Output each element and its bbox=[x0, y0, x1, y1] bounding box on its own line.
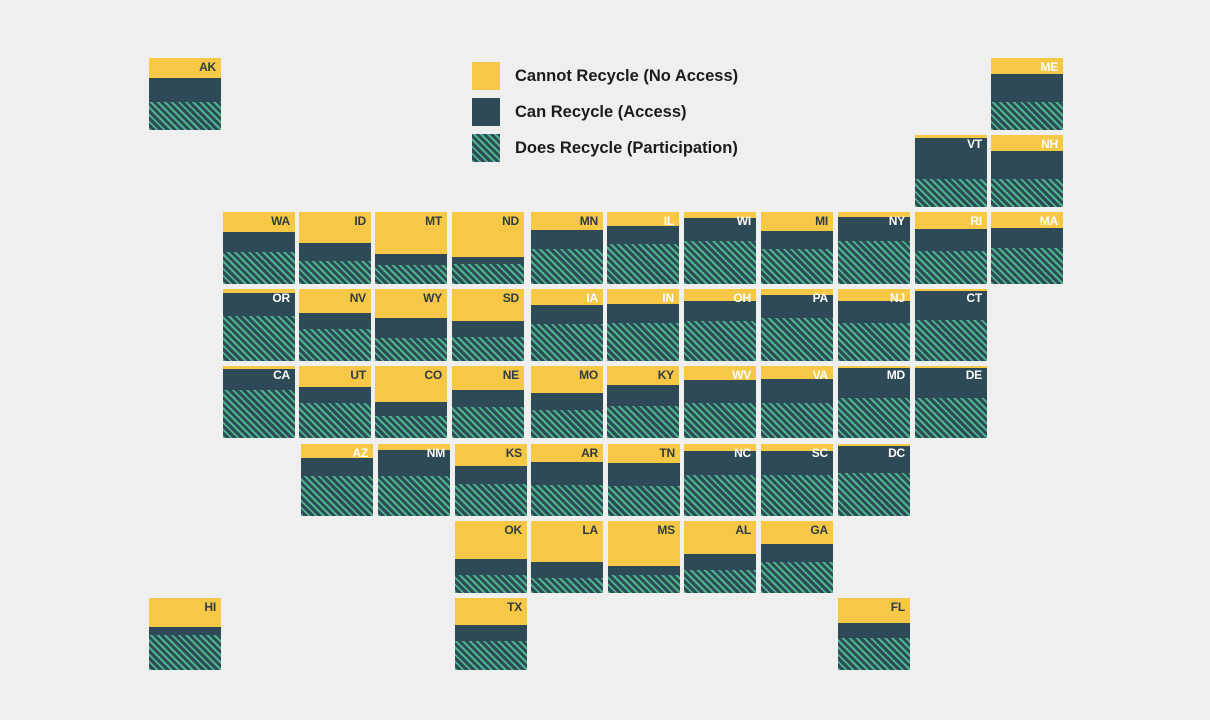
state-label: KY bbox=[658, 369, 674, 382]
band-participation bbox=[684, 241, 756, 284]
band-participation bbox=[531, 410, 603, 438]
state-tile-ia[interactable]: IA bbox=[531, 289, 603, 361]
state-label: KS bbox=[506, 447, 522, 460]
band-access bbox=[149, 627, 221, 636]
band-access bbox=[299, 313, 371, 329]
band-access bbox=[915, 229, 987, 251]
state-label: MO bbox=[579, 369, 598, 382]
state-label: HI bbox=[204, 601, 216, 614]
band-participation bbox=[838, 323, 910, 361]
band-participation bbox=[838, 241, 910, 284]
band-participation bbox=[299, 403, 371, 438]
state-tile-tn[interactable]: TN bbox=[608, 444, 680, 516]
band-participation bbox=[455, 641, 527, 670]
band-participation bbox=[455, 484, 527, 516]
state-tile-in[interactable]: IN bbox=[607, 289, 679, 361]
band-access bbox=[455, 625, 527, 642]
state-label: PA bbox=[813, 292, 828, 305]
band-participation bbox=[301, 476, 373, 516]
band-access bbox=[299, 387, 371, 403]
band-participation bbox=[607, 406, 679, 438]
band-participation bbox=[761, 562, 833, 593]
band-participation bbox=[684, 570, 756, 593]
band-participation bbox=[531, 578, 603, 593]
band-access bbox=[452, 257, 524, 264]
state-tile-ks[interactable]: KS bbox=[455, 444, 527, 516]
state-label: SC bbox=[812, 447, 828, 460]
band-access bbox=[531, 562, 603, 578]
state-label: MT bbox=[425, 215, 442, 228]
state-label: OK bbox=[504, 524, 522, 537]
band-participation bbox=[452, 337, 524, 361]
band-participation bbox=[915, 251, 987, 284]
state-tile-pa[interactable]: PA bbox=[761, 289, 833, 361]
state-label: LA bbox=[582, 524, 598, 537]
band-access bbox=[684, 380, 756, 402]
state-tile-md[interactable]: MD bbox=[838, 366, 910, 438]
legend-swatch-access bbox=[472, 98, 500, 126]
band-access bbox=[761, 231, 833, 249]
band-access bbox=[375, 254, 447, 265]
state-tile-or[interactable]: OR bbox=[223, 289, 295, 361]
state-tile-ny[interactable]: NY bbox=[838, 212, 910, 284]
band-participation bbox=[455, 575, 527, 593]
state-label: DC bbox=[888, 447, 905, 460]
band-participation bbox=[991, 179, 1063, 207]
state-tile-nc[interactable]: NC bbox=[684, 444, 756, 516]
state-label: NE bbox=[503, 369, 519, 382]
state-tile-ms[interactable]: MS bbox=[608, 521, 680, 593]
state-tile-vt[interactable]: VT bbox=[915, 135, 987, 207]
state-label: VT bbox=[967, 138, 982, 151]
state-tile-mt[interactable]: MT bbox=[375, 212, 447, 284]
band-participation bbox=[299, 261, 371, 284]
band-access bbox=[301, 458, 373, 476]
state-label: VA bbox=[813, 369, 828, 382]
state-tile-dc[interactable]: DC bbox=[838, 444, 910, 516]
state-tile-il[interactable]: IL bbox=[607, 212, 679, 284]
legend-swatch-participation bbox=[472, 134, 500, 162]
band-participation bbox=[684, 475, 756, 516]
state-tile-mo[interactable]: MO bbox=[531, 366, 603, 438]
band-participation bbox=[608, 486, 680, 516]
band-participation bbox=[223, 316, 295, 361]
state-tile-ct[interactable]: CT bbox=[915, 289, 987, 361]
band-participation bbox=[531, 485, 603, 516]
state-label: OH bbox=[733, 292, 751, 305]
state-label: RI bbox=[970, 215, 982, 228]
band-access bbox=[299, 243, 371, 261]
band-access bbox=[455, 559, 527, 575]
band-access bbox=[455, 466, 527, 484]
band-access bbox=[608, 566, 680, 575]
state-label: AR bbox=[581, 447, 598, 460]
state-tile-tx[interactable]: TX bbox=[455, 598, 527, 670]
band-participation bbox=[531, 324, 603, 361]
legend-item-no_access: Cannot Recycle (No Access) bbox=[472, 58, 738, 94]
state-label: MS bbox=[657, 524, 675, 537]
legend-item-participation: Does Recycle (Participation) bbox=[472, 130, 738, 166]
state-tile-sd[interactable]: SD bbox=[452, 289, 524, 361]
band-access bbox=[149, 78, 221, 102]
band-access bbox=[223, 232, 295, 251]
state-label: MN bbox=[580, 215, 598, 228]
state-label: CT bbox=[966, 292, 982, 305]
legend-label-access: Can Recycle (Access) bbox=[515, 103, 687, 122]
state-label: WY bbox=[423, 292, 442, 305]
band-participation bbox=[991, 102, 1063, 130]
state-tile-wi[interactable]: WI bbox=[684, 212, 756, 284]
state-label: NY bbox=[889, 215, 905, 228]
state-tile-mn[interactable]: MN bbox=[531, 212, 603, 284]
band-participation bbox=[915, 320, 987, 361]
state-label: IA bbox=[586, 292, 598, 305]
band-participation bbox=[223, 252, 295, 284]
state-tile-fl[interactable]: FL bbox=[838, 598, 910, 670]
band-participation bbox=[452, 407, 524, 438]
band-access bbox=[531, 305, 603, 324]
state-tile-oh[interactable]: OH bbox=[684, 289, 756, 361]
state-tile-ca[interactable]: CA bbox=[223, 366, 295, 438]
state-label: AK bbox=[199, 61, 216, 74]
band-participation bbox=[452, 264, 524, 284]
state-label: NM bbox=[427, 447, 445, 460]
band-participation bbox=[684, 321, 756, 361]
state-tile-ky[interactable]: KY bbox=[607, 366, 679, 438]
band-access bbox=[991, 228, 1063, 248]
band-access bbox=[607, 226, 679, 243]
state-label: WA bbox=[271, 215, 290, 228]
state-label: ID bbox=[354, 215, 366, 228]
band-participation bbox=[607, 323, 679, 361]
state-label: GA bbox=[810, 524, 828, 537]
state-tile-mi[interactable]: MI bbox=[761, 212, 833, 284]
state-tile-az[interactable]: AZ bbox=[301, 444, 373, 516]
band-participation bbox=[761, 249, 833, 284]
band-participation bbox=[838, 638, 910, 670]
state-tile-wa[interactable]: WA bbox=[223, 212, 295, 284]
band-participation bbox=[375, 338, 447, 361]
band-participation bbox=[607, 244, 679, 284]
band-access bbox=[607, 304, 679, 323]
band-participation bbox=[761, 475, 833, 516]
state-label: CO bbox=[424, 369, 442, 382]
state-tile-wv[interactable]: WV bbox=[684, 366, 756, 438]
band-participation bbox=[838, 398, 910, 438]
band-participation bbox=[531, 249, 603, 284]
state-label: TN bbox=[659, 447, 675, 460]
state-tile-al[interactable]: AL bbox=[684, 521, 756, 593]
band-access bbox=[452, 321, 524, 336]
state-tile-ok[interactable]: OK bbox=[455, 521, 527, 593]
state-label: CA bbox=[273, 369, 290, 382]
state-tile-sc[interactable]: SC bbox=[761, 444, 833, 516]
state-label: UT bbox=[350, 369, 366, 382]
state-label: AZ bbox=[352, 447, 368, 460]
state-label: WI bbox=[737, 215, 751, 228]
state-label: IN bbox=[662, 292, 674, 305]
state-tile-de[interactable]: DE bbox=[915, 366, 987, 438]
band-participation bbox=[149, 635, 221, 670]
state-tile-wy[interactable]: WY bbox=[375, 289, 447, 361]
state-label: WV bbox=[732, 369, 751, 382]
band-access bbox=[452, 390, 524, 407]
band-access bbox=[531, 393, 603, 410]
band-access bbox=[684, 554, 756, 570]
state-tile-co[interactable]: CO bbox=[375, 366, 447, 438]
band-access bbox=[991, 151, 1063, 179]
state-tile-ri[interactable]: RI bbox=[915, 212, 987, 284]
band-participation bbox=[375, 416, 447, 438]
band-participation bbox=[608, 575, 680, 593]
band-access bbox=[607, 385, 679, 406]
band-participation bbox=[223, 390, 295, 438]
band-access bbox=[761, 544, 833, 562]
state-label: NC bbox=[734, 447, 751, 460]
state-label: IL bbox=[664, 215, 674, 228]
chart-legend: Cannot Recycle (No Access)Can Recycle (A… bbox=[472, 58, 738, 166]
state-tile-ne[interactable]: NE bbox=[452, 366, 524, 438]
state-label: SD bbox=[503, 292, 519, 305]
band-participation bbox=[684, 403, 756, 438]
band-participation bbox=[838, 473, 910, 516]
state-label: MA bbox=[1040, 215, 1058, 228]
band-participation bbox=[915, 179, 987, 207]
state-label: MD bbox=[887, 369, 905, 382]
state-label: MI bbox=[815, 215, 828, 228]
band-access bbox=[761, 379, 833, 403]
state-tile-ak[interactable]: AK bbox=[149, 58, 221, 130]
band-access bbox=[531, 462, 603, 485]
state-label: NH bbox=[1041, 138, 1058, 151]
state-label: TX bbox=[507, 601, 522, 614]
band-participation bbox=[378, 476, 450, 516]
state-tile-hi[interactable]: HI bbox=[149, 598, 221, 670]
state-label: NV bbox=[350, 292, 366, 305]
legend-label-no_access: Cannot Recycle (No Access) bbox=[515, 67, 738, 86]
band-participation bbox=[761, 403, 833, 438]
state-label: DE bbox=[966, 369, 982, 382]
legend-swatch-no_access bbox=[472, 62, 500, 90]
state-tile-ar[interactable]: AR bbox=[531, 444, 603, 516]
band-access bbox=[838, 623, 910, 637]
band-participation bbox=[299, 329, 371, 361]
state-tile-ut[interactable]: UT bbox=[299, 366, 371, 438]
band-participation bbox=[149, 102, 221, 130]
state-tile-ga[interactable]: GA bbox=[761, 521, 833, 593]
state-label: AL bbox=[735, 524, 751, 537]
band-access bbox=[375, 318, 447, 338]
legend-label-participation: Does Recycle (Participation) bbox=[515, 139, 738, 158]
state-tile-ma[interactable]: MA bbox=[991, 212, 1063, 284]
band-participation bbox=[375, 265, 447, 284]
legend-item-access: Can Recycle (Access) bbox=[472, 94, 738, 130]
state-tile-la[interactable]: LA bbox=[531, 521, 603, 593]
state-label: ME bbox=[1040, 61, 1058, 74]
state-tile-id[interactable]: ID bbox=[299, 212, 371, 284]
band-participation bbox=[761, 318, 833, 361]
state-tile-va[interactable]: VA bbox=[761, 366, 833, 438]
band-participation bbox=[915, 398, 987, 438]
state-tile-nh[interactable]: NH bbox=[991, 135, 1063, 207]
band-access bbox=[375, 402, 447, 416]
state-label: ND bbox=[502, 215, 519, 228]
band-participation bbox=[991, 248, 1063, 284]
state-tile-nj[interactable]: NJ bbox=[838, 289, 910, 361]
state-label: NJ bbox=[890, 292, 905, 305]
band-access bbox=[531, 230, 603, 249]
state-tile-nm[interactable]: NM bbox=[378, 444, 450, 516]
state-tile-me[interactable]: ME bbox=[991, 58, 1063, 130]
state-tile-nd[interactable]: ND bbox=[452, 212, 524, 284]
state-tile-nv[interactable]: NV bbox=[299, 289, 371, 361]
band-access bbox=[608, 463, 680, 487]
band-access bbox=[991, 74, 1063, 102]
state-label: OR bbox=[272, 292, 290, 305]
state-label: FL bbox=[891, 601, 905, 614]
